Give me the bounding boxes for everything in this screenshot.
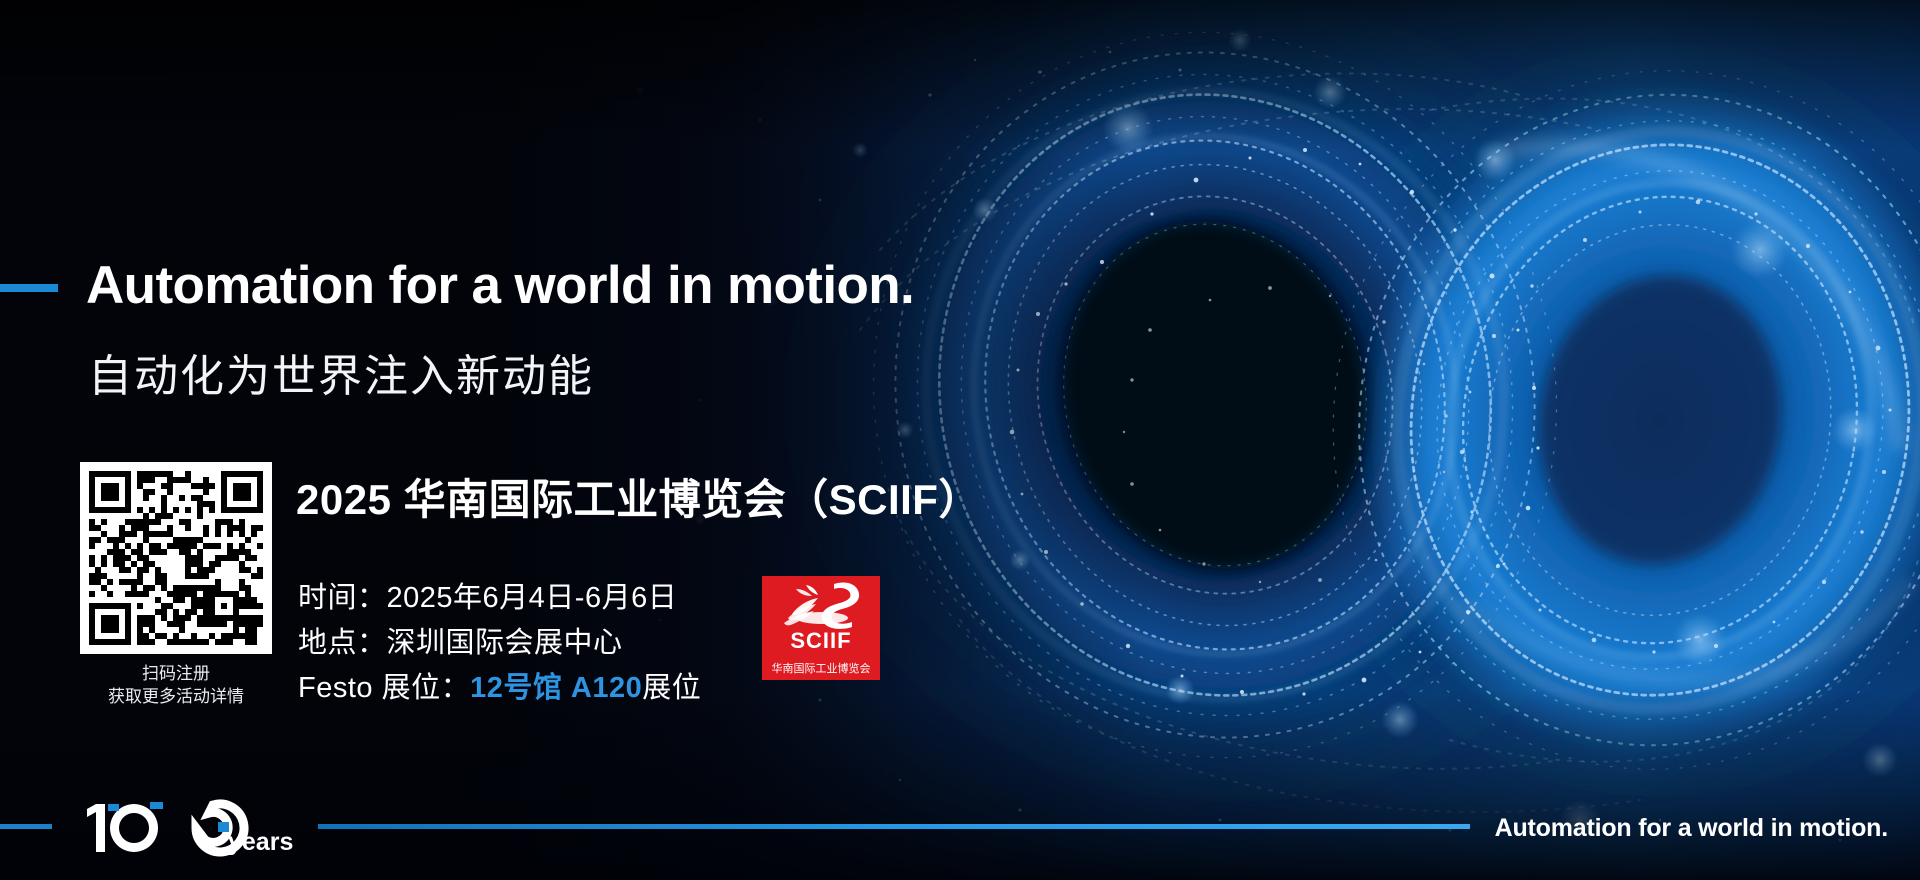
booth-suffix: 展位 [642, 672, 701, 704]
booth-hall: 12号馆 A120 [470, 672, 642, 704]
sciif-logo-name-cn: 华南国际工业博览会 [762, 660, 880, 676]
event-title: 2025 华南国际工业博览会（SCIIF） [296, 466, 981, 527]
event-info-venue: 地点：深圳国际会展中心 [298, 621, 701, 666]
footer-rule-left [0, 824, 52, 829]
footer-rule-right [318, 824, 1470, 829]
event-info-booth: Festo 展位：12号馆 A120展位 [298, 666, 701, 711]
qr-caption-line1: 扫码注册 [80, 663, 272, 686]
headline-accent-dash [0, 284, 58, 292]
booth-label: Festo 展位： [298, 666, 470, 711]
qr-caption-line2: 获取更多活动详情 [80, 686, 272, 709]
event-info-date-label: 时间： [298, 576, 387, 621]
qr-block: 扫码注册 获取更多活动详情 [80, 462, 272, 708]
qr-caption: 扫码注册 获取更多活动详情 [80, 663, 272, 708]
years-word: years [228, 828, 293, 856]
footer-tagline: Automation for a world in motion. [1495, 814, 1888, 843]
subheadline-chinese: 自动化为世界注入新动能 [88, 340, 594, 404]
sciif-swoosh-icon [762, 578, 880, 632]
footer-strip: years Automation for a world in motion. [0, 760, 1920, 880]
festo-event-banner: Automation for a world in motion. 自动化为世界… [0, 0, 1920, 880]
headline: Automation for a world in motion. [86, 255, 914, 316]
event-info-list: 时间：2025年6月4日-6月6日 地点：深圳国际会展中心 Festo 展位：1… [298, 576, 701, 711]
event-info-venue-label: 地点： [298, 621, 387, 666]
sciif-logo: SCIIF 华南国际工业博览会 [762, 576, 880, 680]
qr-code-icon[interactable] [80, 462, 272, 654]
100-years-logo: years [86, 796, 306, 858]
event-info-date: 时间：2025年6月4日-6月6日 [298, 576, 701, 621]
banner-content: Automation for a world in motion. 自动化为世界… [0, 0, 1920, 880]
sciif-logo-name: SCIIF [762, 628, 880, 654]
event-info-venue-value: 深圳国际会展中心 [387, 627, 623, 659]
event-info-date-value: 2025年6月4日-6月6日 [387, 582, 678, 614]
